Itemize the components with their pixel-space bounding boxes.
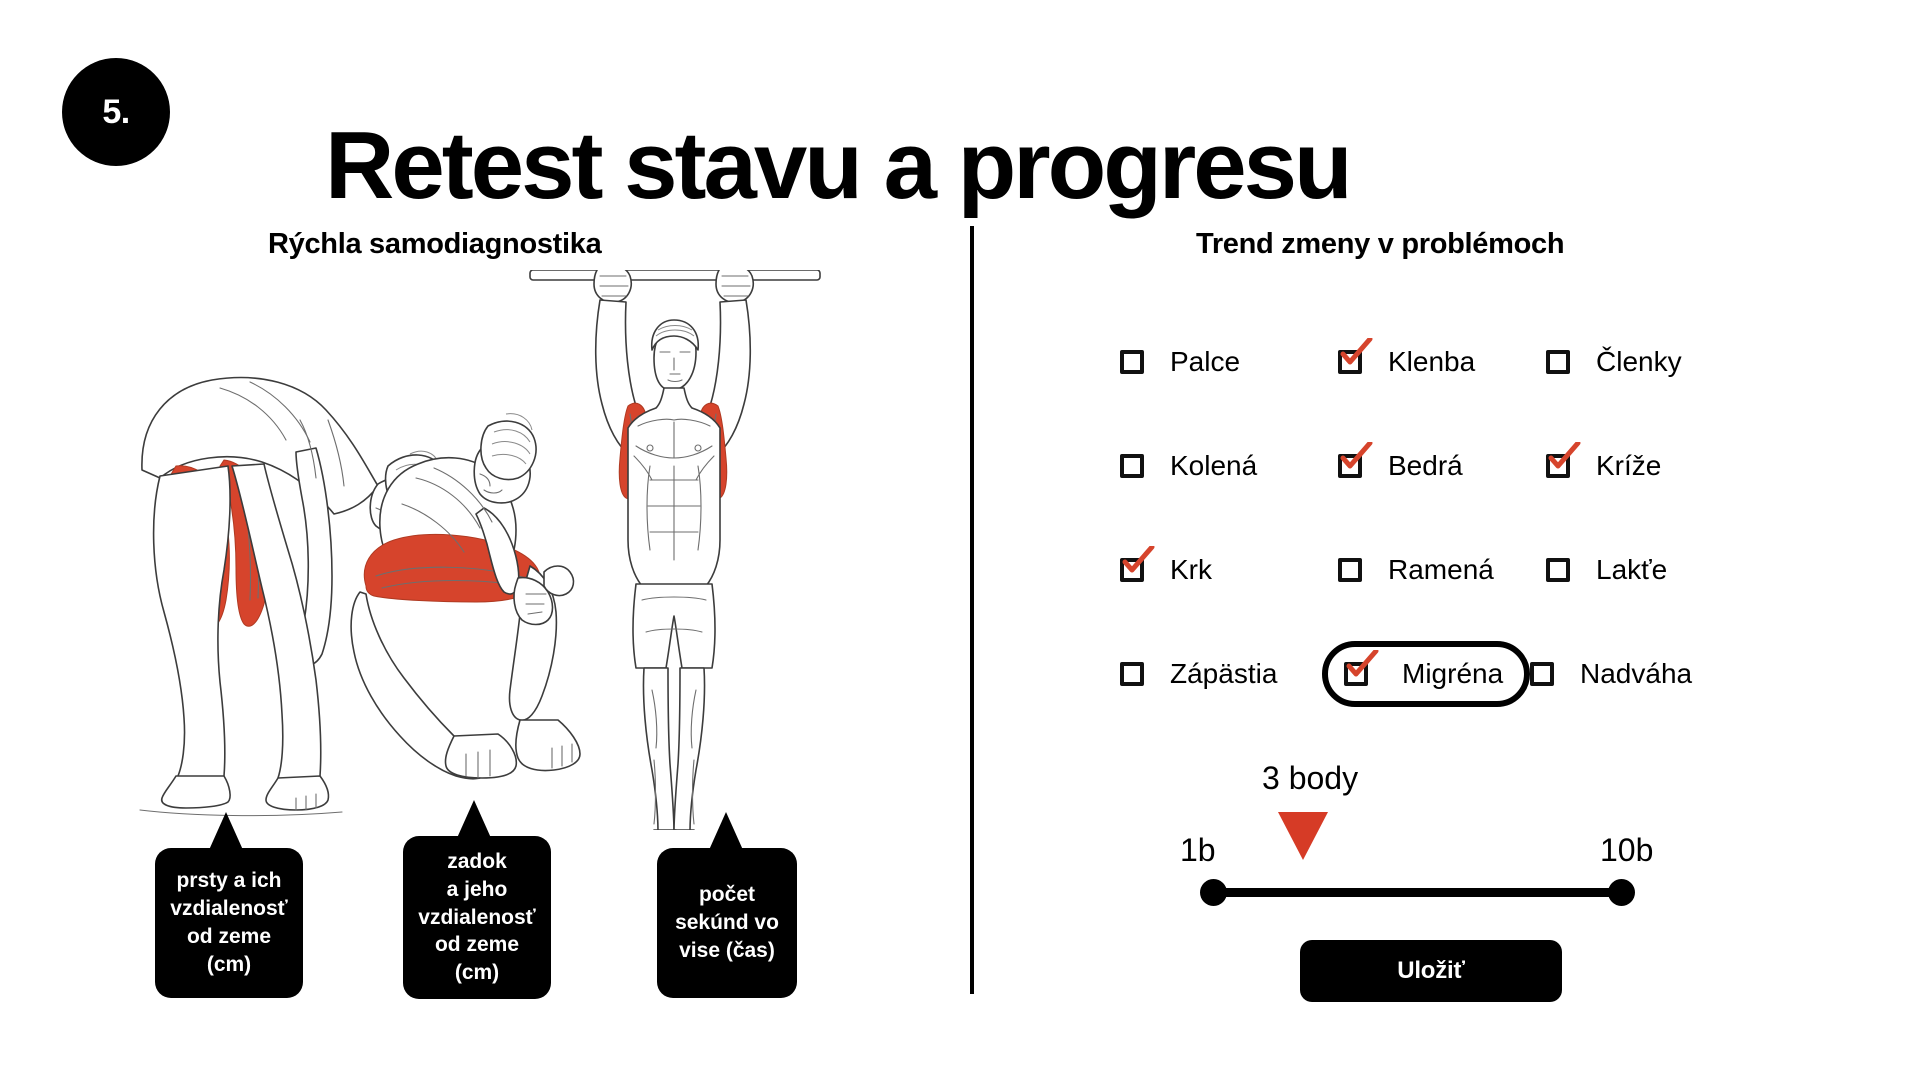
slider-max-label: 10b	[1600, 832, 1653, 869]
checkbox-label: Zápästia	[1170, 658, 1277, 690]
checkbox-checked-icon[interactable]	[1344, 662, 1368, 686]
checkbox-checked-icon[interactable]	[1338, 350, 1362, 374]
callout-bubble-fingers: prsty a ich vzdialenosť od zeme (cm)	[155, 848, 303, 998]
exercise-illustrations: .ln { fill:none; stroke:#3c3c3c; stroke-…	[120, 270, 920, 830]
deep-squat-figure	[351, 414, 580, 779]
slider-knob-max[interactable]	[1608, 879, 1635, 906]
problem-checkbox-grid: PalceKlenbaČlenkyKolenáBedráKrížeKrkRame…	[1120, 310, 1800, 726]
checkbox-row: ZápästiaMigrénaNadváha	[1120, 622, 1800, 726]
checkbox-checked-icon[interactable]	[1120, 558, 1144, 582]
page-title: Retest stavu a progresu	[325, 116, 1350, 217]
slider-track[interactable]	[1213, 888, 1621, 897]
callout-tail-2	[457, 800, 491, 838]
checkbox-row: KrkRamenáLakťe	[1120, 518, 1800, 622]
slider-knob-min[interactable]	[1200, 879, 1227, 906]
checkbox-empty-icon[interactable]	[1546, 558, 1570, 582]
checkbox-label: Ramená	[1388, 554, 1494, 586]
points-slider[interactable]: 3 body 1b 10b	[1190, 760, 1650, 880]
checkbox-label: Kolená	[1170, 450, 1257, 482]
checkbox-item-z-p-stia[interactable]: Zápästia	[1120, 658, 1338, 690]
checkbox-checked-icon[interactable]	[1338, 454, 1362, 478]
checkbox-item-klenba[interactable]: Klenba	[1338, 346, 1546, 378]
checkbox-item-migr-na[interactable]: Migréna	[1322, 641, 1530, 707]
callout-bubble-glutes: zadok a jeho vzdialenosť od zeme (cm)	[403, 836, 551, 999]
checkbox-item-kolen-[interactable]: Kolená	[1120, 450, 1338, 482]
step-number-label: 5.	[102, 93, 129, 132]
checkbox-label: Bedrá	[1388, 450, 1463, 482]
step-number-badge: 5.	[62, 58, 170, 166]
right-panel-title: Trend zmeny v problémoch	[1196, 228, 1564, 261]
checkbox-empty-icon[interactable]	[1546, 350, 1570, 374]
callout-bubble-hang: počet sekúnd vo vise (čas)	[657, 848, 797, 998]
save-button[interactable]: Uložiť	[1300, 940, 1562, 1002]
checkbox-item-bedr-[interactable]: Bedrá	[1338, 450, 1546, 482]
callout-tail-1	[209, 812, 243, 850]
checkbox-label: Lakťe	[1596, 554, 1667, 586]
checkbox-label: Členky	[1596, 346, 1682, 378]
slider-marker-triangle-icon[interactable]	[1278, 812, 1328, 860]
checkbox-label: Krk	[1170, 554, 1212, 586]
checkbox-label: Palce	[1170, 346, 1240, 378]
checkbox-item-palce[interactable]: Palce	[1120, 346, 1338, 378]
checkbox-item--lenky[interactable]: Členky	[1546, 346, 1756, 378]
checkbox-label: Nadváha	[1580, 658, 1692, 690]
checkbox-row: KolenáBedráKríže	[1120, 414, 1800, 518]
checkbox-empty-icon[interactable]	[1530, 662, 1554, 686]
checkbox-empty-icon[interactable]	[1120, 350, 1144, 374]
checkbox-item-ramen-[interactable]: Ramená	[1338, 554, 1546, 586]
checkbox-item-nadv-ha[interactable]: Nadváha	[1530, 658, 1740, 690]
checkbox-empty-icon[interactable]	[1338, 558, 1362, 582]
panel-divider	[970, 226, 974, 994]
slider-value-label: 3 body	[1262, 760, 1358, 797]
checkbox-item-lak-e[interactable]: Lakťe	[1546, 554, 1756, 586]
left-panel-title: Rýchla samodiagnostika	[268, 228, 601, 261]
callout-tail-3	[709, 812, 743, 850]
checkbox-label: Migréna	[1402, 658, 1503, 690]
slider-min-label: 1b	[1180, 832, 1216, 869]
checkbox-row: PalceKlenbaČlenky	[1120, 310, 1800, 414]
checkbox-empty-icon[interactable]	[1120, 662, 1144, 686]
checkbox-empty-icon[interactable]	[1120, 454, 1144, 478]
checkbox-item-kr-e[interactable]: Kríže	[1546, 450, 1756, 482]
checkbox-checked-icon[interactable]	[1546, 454, 1570, 478]
checkbox-item-krk[interactable]: Krk	[1120, 554, 1338, 586]
checkbox-label: Klenba	[1388, 346, 1475, 378]
checkbox-label: Kríže	[1596, 450, 1661, 482]
